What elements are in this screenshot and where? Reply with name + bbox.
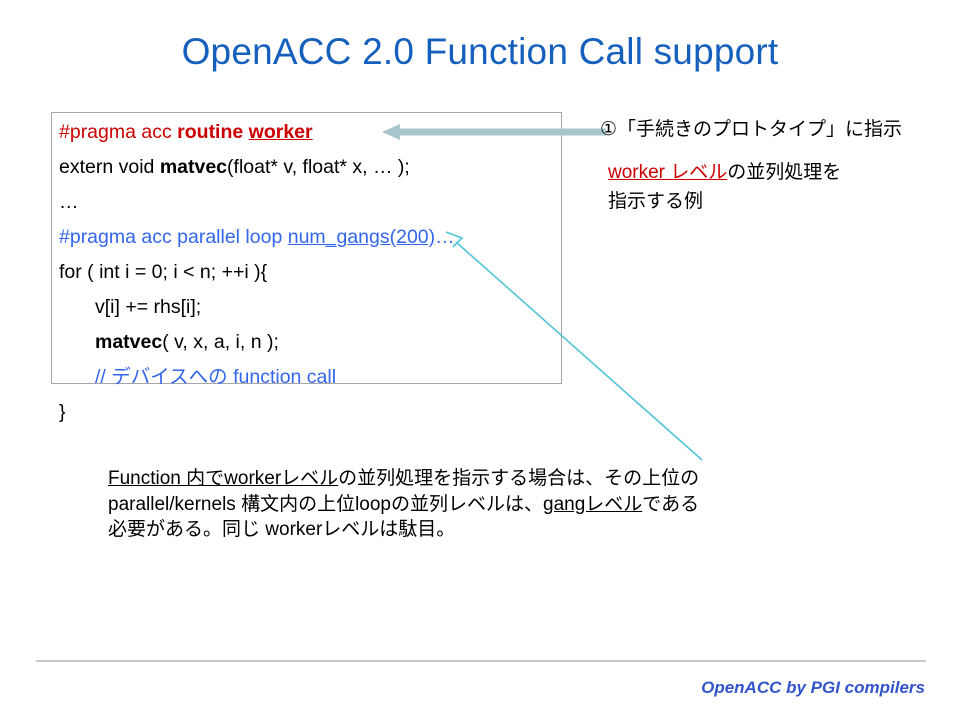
note-segment-2: の並列処理を指示する場合は、その上位の xyxy=(338,468,699,489)
code-segment: ( v, x, a, i, n ); xyxy=(162,331,279,353)
code-line: #pragma acc routine worker xyxy=(59,115,579,150)
code-segment: // デバイスへの function call xyxy=(95,366,336,388)
code-segment: #pragma acc parallel loop xyxy=(59,226,288,248)
callout-prototype-directive: ①「手続きのプロトタイプ」に指示 xyxy=(600,116,902,144)
note-segment-function-worker: Function 内でworkerレベル xyxy=(108,468,338,489)
note-segment-gang-level: gangレベル xyxy=(543,494,642,515)
code-segment: … xyxy=(59,191,79,213)
callout-worker-level-keyword: worker レベル xyxy=(608,162,727,183)
footer-attribution: OpenACC by PGI compilers xyxy=(701,678,925,698)
code-segment: matvec xyxy=(95,331,162,353)
code-line: } xyxy=(59,395,579,430)
callout-worker-level-rest: の並列処理を xyxy=(727,162,841,183)
code-segment: (float* v, float* x, … ); xyxy=(227,156,410,178)
code-line: // デバイスへの function call xyxy=(59,360,579,395)
explanatory-note: Function 内でworkerレベルの並列処理を指示する場合は、その上位の … xyxy=(108,466,888,543)
code-segment: matvec xyxy=(160,156,227,178)
code-segment: } xyxy=(59,401,66,423)
code-segment: v[i] += rhs[i]; xyxy=(95,296,201,318)
code-line: extern void matvec(float* v, float* x, …… xyxy=(59,150,579,185)
code-segment: extern void xyxy=(59,156,160,178)
note-segment-6: 必要がある。同じ workerレベルは駄目。 xyxy=(108,519,455,540)
code-segment: for ( int i = 0; i < n; ++i ){ xyxy=(59,261,267,283)
code-line: … xyxy=(59,185,579,220)
note-segment-5: である xyxy=(642,494,699,515)
footer-divider xyxy=(36,660,926,662)
code-segment: routine xyxy=(177,121,249,143)
code-segment: num_gangs(200) xyxy=(288,226,435,248)
callout-worker-level-line2: 指示する例 xyxy=(608,191,703,212)
code-segment: … xyxy=(435,226,455,248)
note-segment-3: parallel/kernels 構文内の上位loopの並列レベルは、 xyxy=(108,494,543,515)
code-segment: #pragma acc xyxy=(59,121,177,143)
code-line: #pragma acc parallel loop num_gangs(200)… xyxy=(59,220,579,255)
code-line: matvec( v, x, a, i, n ); xyxy=(59,325,579,360)
code-line: for ( int i = 0; i < n; ++i ){ xyxy=(59,255,579,290)
code-line: v[i] += rhs[i]; xyxy=(59,290,579,325)
callout-worker-level-example: worker レベルの並列処理を 指示する例 xyxy=(608,158,938,216)
page-title: OpenACC 2.0 Function Call support xyxy=(0,30,960,74)
code-segment: worker xyxy=(249,121,313,143)
code-listing: #pragma acc routine worker extern void m… xyxy=(59,115,579,430)
